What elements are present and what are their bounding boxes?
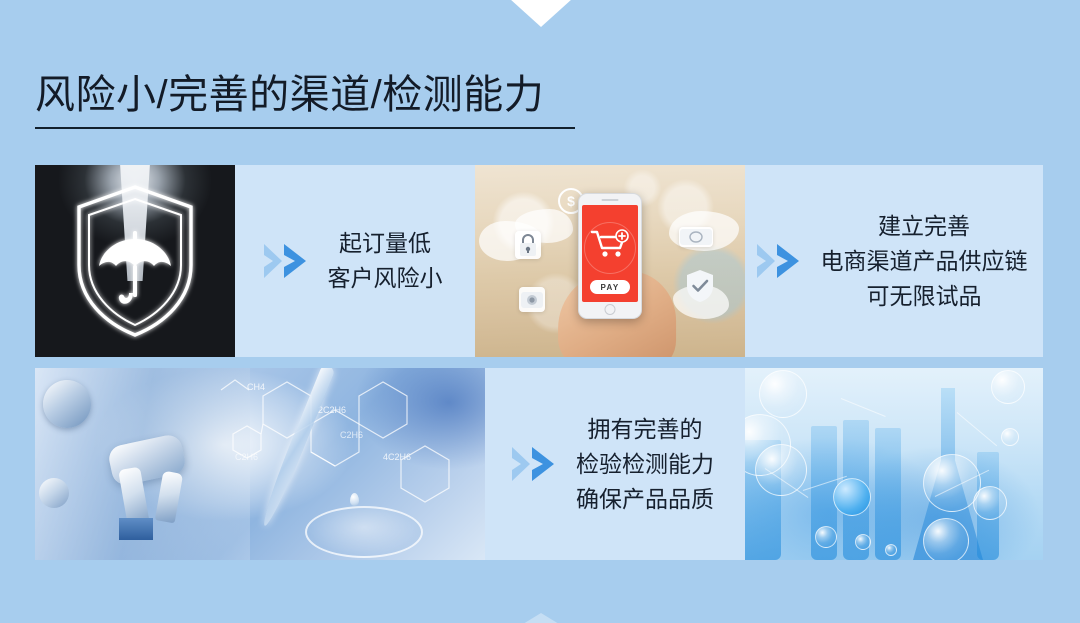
caption-line: 电商渠道产品供应链 (821, 248, 1028, 274)
bubble (923, 518, 969, 560)
feature-caption-text: 拥有完善的 检验检测能力 确保产品品质 (576, 412, 714, 517)
caption-line: 客户风险小 (328, 265, 443, 291)
page-title: 风险小/完善的渠道/检测能力 (35, 68, 655, 129)
umbrella-icon (99, 231, 171, 304)
beaker-bubbles-photo (745, 368, 1043, 560)
double-chevron-right-icon (510, 442, 560, 486)
petri-dish (305, 506, 423, 558)
svg-text:4C2H6: 4C2H6 (383, 452, 411, 462)
laboratory-microscope-photo: CH4 2C2H6 C2H6 C2H6 4C2H6 (35, 368, 485, 560)
bubble (973, 486, 1007, 520)
feature-grid: 起订量低 客户风险小 $ (35, 165, 1043, 560)
bubble (815, 526, 837, 548)
bubble (755, 444, 807, 496)
feature-image-laboratory: CH4 2C2H6 C2H6 C2H6 4C2H6 (35, 368, 485, 560)
caption-line: 可无限试品 (867, 283, 982, 309)
caption-line: 建立完善 (878, 213, 970, 239)
phone-screen: PAY (582, 205, 638, 302)
feature-row-top: 起订量低 客户风险小 $ (35, 165, 1043, 357)
top-white-triangle (510, 0, 572, 27)
svg-text:C2H6: C2H6 (340, 430, 363, 440)
bubble (855, 534, 871, 550)
page-title-text: 风险小/完善的渠道/检测能力 (35, 68, 655, 122)
page-title-underline (35, 127, 575, 129)
pay-button[interactable]: PAY (590, 280, 630, 294)
feature-row-bottom: CH4 2C2H6 C2H6 C2H6 4C2H6 (35, 368, 1043, 560)
svg-text:C2H6: C2H6 (235, 452, 258, 462)
beaker (875, 428, 901, 560)
shield-check-icon (685, 269, 715, 303)
caption-line: 起订量低 (339, 230, 431, 256)
molecule-bond (957, 412, 997, 446)
double-chevron-right-icon (755, 239, 805, 283)
feature-caption-testing-capability: 拥有完善的 检验检测能力 确保产品品质 (485, 368, 745, 560)
feature-image-mobile-pay: $ (475, 165, 745, 357)
feature-image-beakers (745, 368, 1043, 560)
shield-icon (71, 181, 199, 341)
feature-caption-text: 建立完善 电商渠道产品供应链 可无限试品 (821, 209, 1028, 314)
padlock-icon (515, 231, 541, 259)
feature-caption-low-moq: 起订量低 客户风险小 (235, 165, 475, 357)
svg-text:CH4: CH4 (247, 382, 265, 392)
bubble (1001, 428, 1019, 446)
bubble (991, 370, 1025, 404)
camera-icon (519, 287, 545, 312)
caption-line: 拥有完善的 (588, 416, 703, 442)
caption-line: 确保产品品质 (576, 486, 714, 512)
smartphone: PAY (578, 193, 642, 319)
svg-text:2C2H6: 2C2H6 (318, 405, 346, 415)
bottom-white-triangle (505, 613, 577, 623)
banknote-icon (679, 227, 713, 247)
caption-line: 检验检测能力 (576, 451, 714, 477)
phone-speaker (602, 199, 619, 201)
bubble (833, 478, 871, 516)
double-chevron-right-icon (262, 239, 312, 283)
shield-umbrella-photo (35, 165, 235, 357)
molecule-bond (841, 398, 886, 417)
feature-image-shield-umbrella (35, 165, 235, 357)
bubble (885, 544, 897, 556)
shopping-cart-icon (590, 229, 630, 259)
mobile-pay-photo: $ (475, 165, 745, 357)
liquid-droplet (350, 493, 359, 506)
svg-text:$: $ (567, 193, 575, 209)
bubble (759, 370, 807, 418)
feature-caption-ecommerce-channel: 建立完善 电商渠道产品供应链 可无限试品 (745, 165, 1043, 357)
feature-caption-text: 起订量低 客户风险小 (328, 226, 443, 296)
home-button[interactable] (605, 304, 616, 315)
